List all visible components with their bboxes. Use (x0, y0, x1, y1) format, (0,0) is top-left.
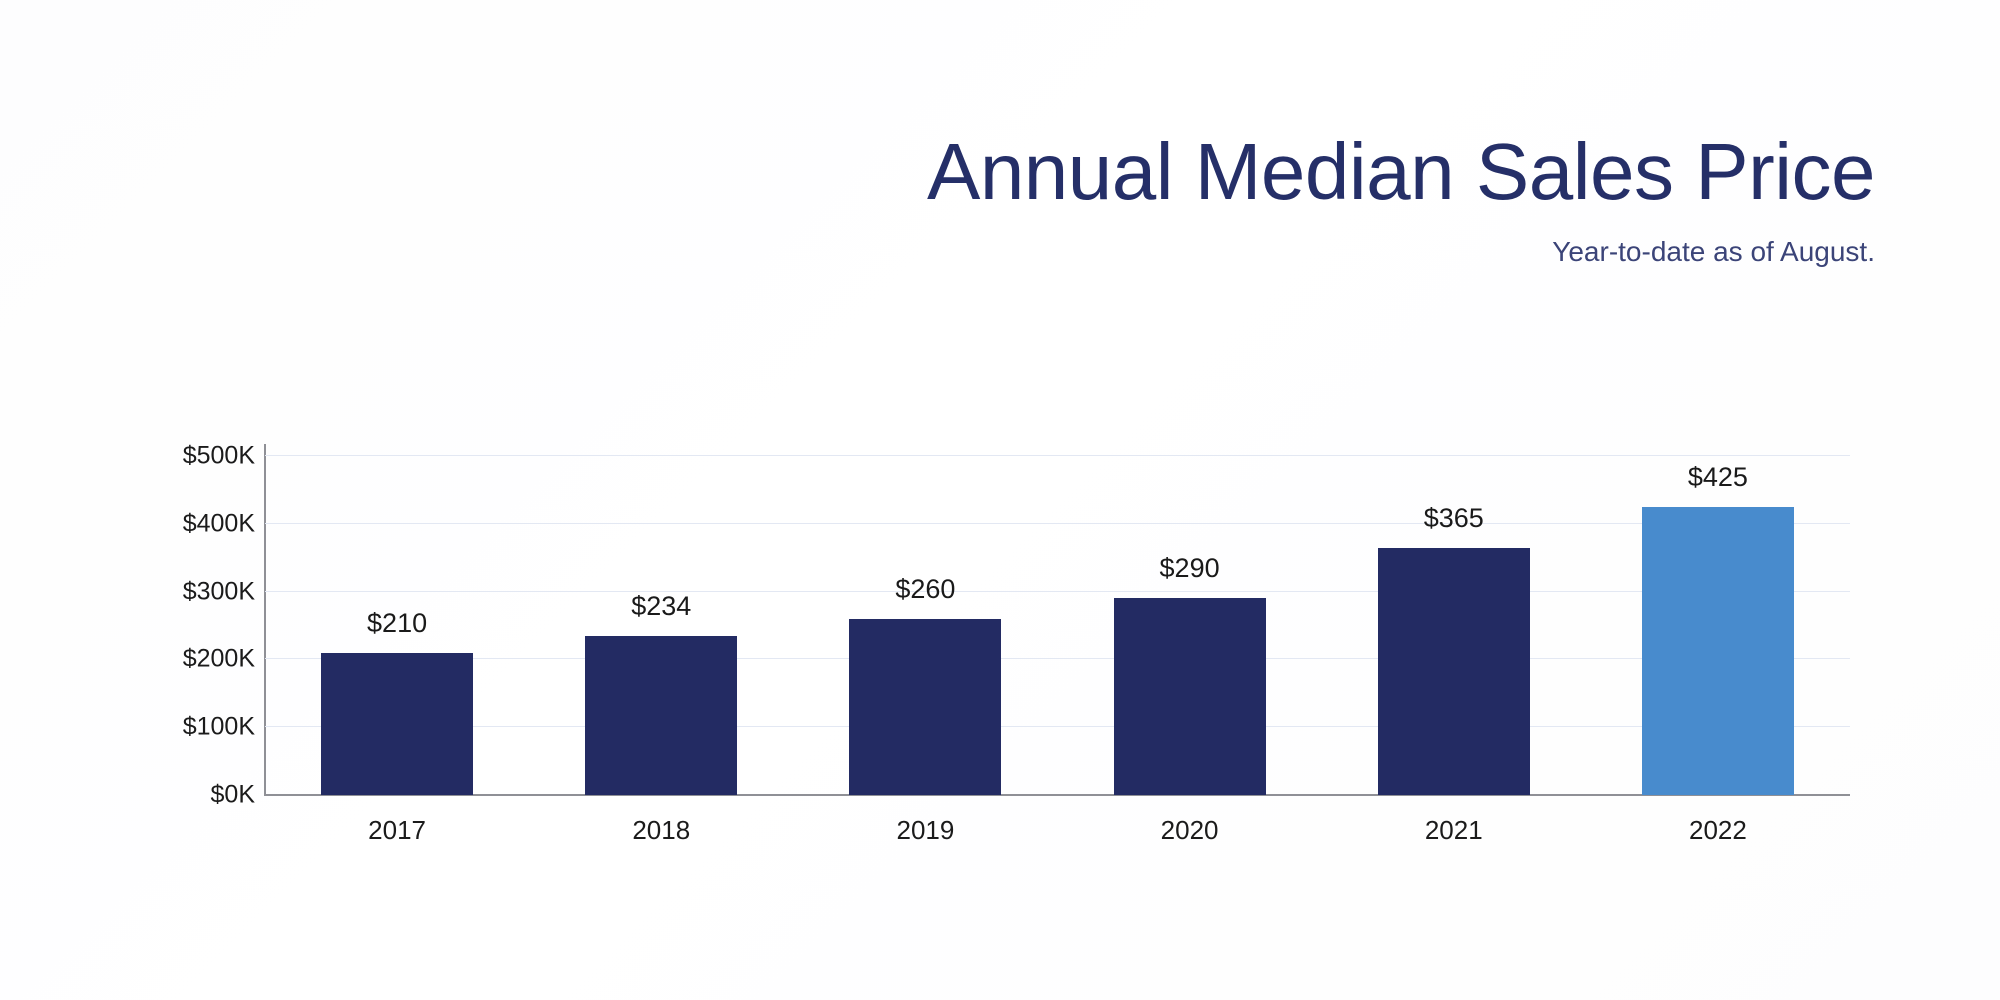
x-axis-tick-label: 2022 (1618, 815, 1818, 846)
bar-value-label: $234 (631, 591, 691, 622)
gridline (265, 658, 1850, 659)
bar-rect (849, 619, 1001, 795)
bar-2021[interactable]: $365 (1378, 548, 1530, 795)
bar-chart: $210$234$260$290$365$425 $0K$100K$200K$3… (0, 0, 2000, 1000)
bar-2019[interactable]: $260 (849, 619, 1001, 795)
bar-value-label: $210 (367, 608, 427, 639)
bar-value-label: $290 (1160, 553, 1220, 584)
bar-rect (1378, 548, 1530, 795)
y-axis-tick-label: $500K (55, 442, 255, 471)
bar-rect (1114, 598, 1266, 795)
y-axis-tick-label: $0K (55, 781, 255, 810)
bar-rect (585, 636, 737, 795)
bar-value-label: $260 (895, 574, 955, 605)
bar-2018[interactable]: $234 (585, 636, 737, 795)
y-axis-tick-label: $400K (55, 509, 255, 538)
bar-2022[interactable]: $425 (1642, 507, 1794, 795)
bar-rect (321, 653, 473, 795)
bar-value-label: $365 (1424, 503, 1484, 534)
gridline (265, 455, 1850, 456)
plot-area: $210$234$260$290$365$425 (265, 456, 1850, 795)
x-axis-tick-label: 2019 (825, 815, 1025, 846)
x-axis-tick-label: 2017 (297, 815, 497, 846)
x-axis-tick-label: 2020 (1090, 815, 1290, 846)
bar-2020[interactable]: $290 (1114, 598, 1266, 795)
gridline (265, 726, 1850, 727)
gridline (265, 523, 1850, 524)
bar-value-label: $425 (1688, 462, 1748, 493)
y-axis-tick-label: $100K (55, 713, 255, 742)
y-axis-tick-label: $200K (55, 645, 255, 674)
y-axis-tick-label: $300K (55, 577, 255, 606)
x-axis-tick-label: 2018 (561, 815, 761, 846)
gridline (265, 591, 1850, 592)
bar-rect (1642, 507, 1794, 795)
bar-2017[interactable]: $210 (321, 653, 473, 795)
x-axis-tick-label: 2021 (1354, 815, 1554, 846)
chart-page: Annual Median Sales Price Year-to-date a… (0, 0, 2000, 1000)
